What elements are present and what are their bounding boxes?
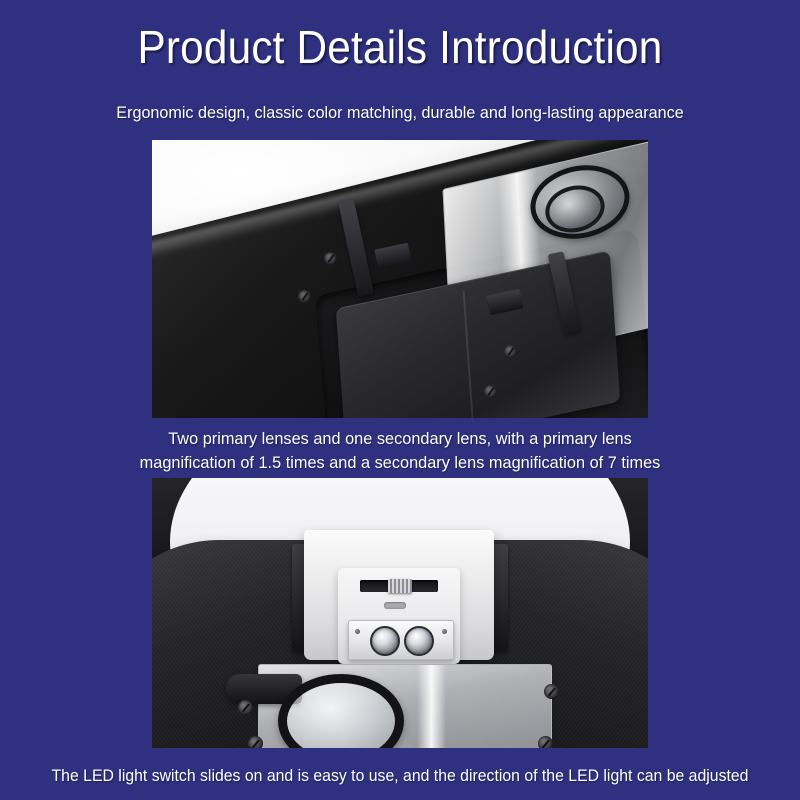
screw-bottom	[484, 385, 497, 398]
caption-lens-line-1: Two primary lenses and one secondary len…	[16, 427, 784, 451]
screw-front-right	[544, 684, 559, 699]
product-photo-front-led-module	[152, 478, 648, 748]
led-plate-screw-right	[442, 629, 447, 634]
screw-front-right-lower	[538, 736, 553, 748]
caption-led-switch: The LED light switch slides on and is ea…	[28, 764, 772, 788]
caption-lens-magnification: Two primary lenses and one secondary len…	[16, 427, 784, 475]
led-switch-notch	[384, 602, 406, 609]
led-slide-switch[interactable]	[388, 579, 412, 593]
caption-lens-line-2: magnification of 1.5 times and a seconda…	[16, 451, 784, 475]
led-lamp-right	[404, 626, 434, 656]
led-lamp-left	[370, 626, 400, 656]
product-details-page: Product Details Introduction Ergonomic d…	[0, 0, 800, 800]
page-title: Product Details Introduction	[32, 18, 768, 76]
screw-top-left	[324, 252, 337, 265]
product-photo-open-battery-compartment	[152, 140, 648, 418]
led-plate-screw-left	[355, 629, 360, 634]
page-subtitle: Ergonomic design, classic color matching…	[20, 102, 780, 124]
led-lamp-plate	[348, 620, 454, 660]
battery-door-seam	[462, 290, 473, 418]
photo-one-canvas	[152, 140, 648, 418]
screw-mid-left	[298, 290, 311, 303]
screw-front-left-lower	[248, 736, 263, 748]
screw-right	[504, 345, 517, 358]
photo-two-canvas	[152, 478, 648, 748]
screw-front-left	[238, 700, 253, 715]
